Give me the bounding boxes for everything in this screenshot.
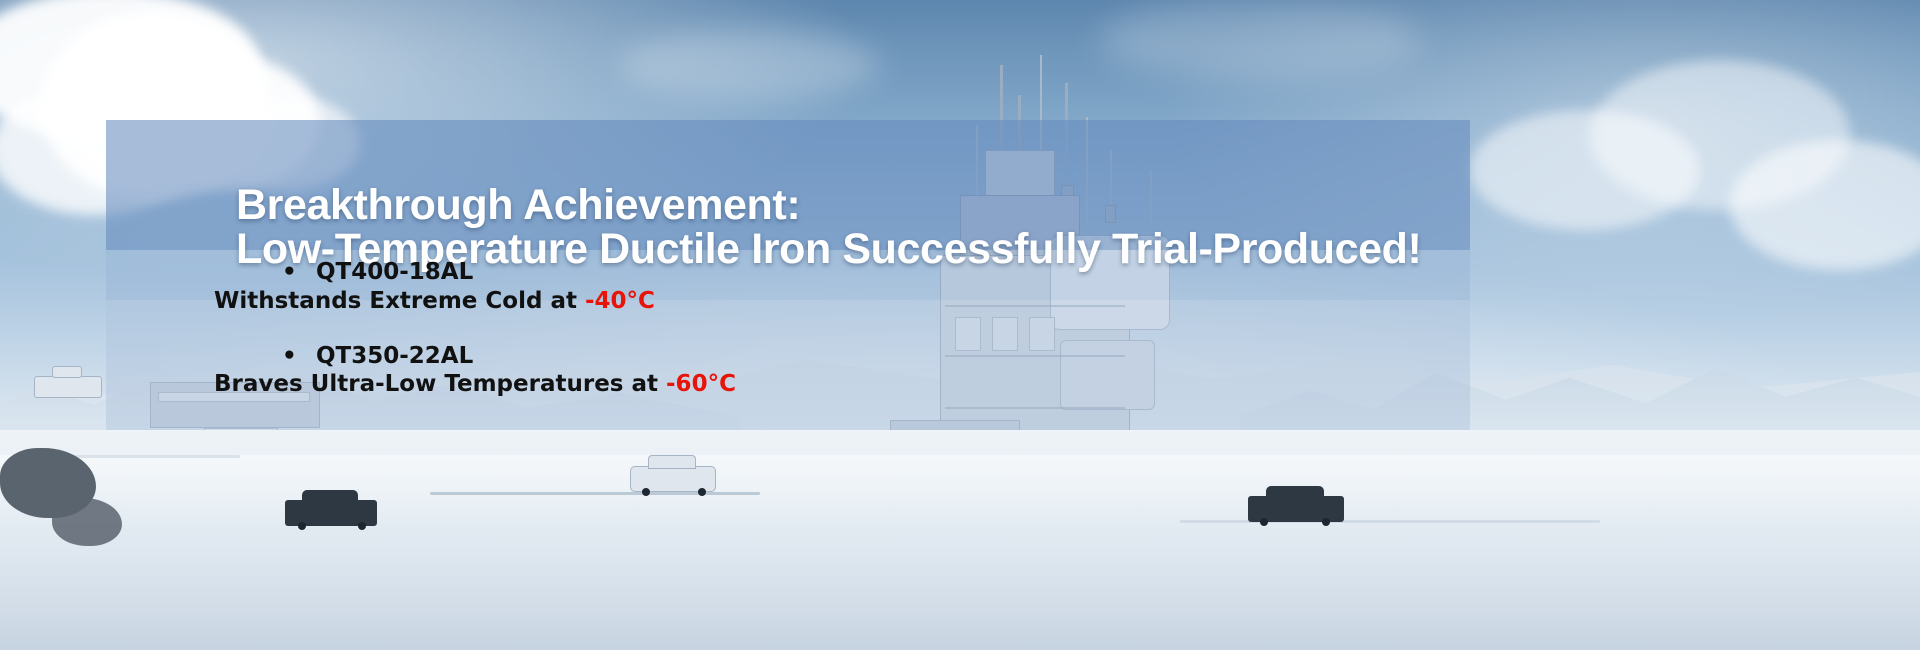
wheel-shape (642, 488, 650, 496)
bullet-description-text: Withstands Extreme Cold at (214, 288, 585, 314)
snow-track (430, 492, 760, 495)
banner-root: Breakthrough Achievement: Low-Temperatur… (0, 0, 1920, 650)
bullet-description-line: Withstands Extreme Cold at -40°C (214, 287, 1382, 316)
temperature-value: -40°C (585, 288, 655, 314)
bullet-grade-line: •QT350-22AL (282, 342, 1382, 371)
car-cabin (302, 490, 358, 503)
wheel-shape (1322, 518, 1330, 526)
suv-cabin (648, 455, 696, 469)
wheel-shape (698, 488, 706, 496)
temperature-value: -60°C (666, 371, 736, 397)
text-overlay-panel: Breakthrough Achievement: Low-Temperatur… (106, 120, 1470, 430)
snow-track (60, 455, 240, 458)
bullet-group-qt400: •QT400-18AL Withstands Extreme Cold at -… (282, 258, 1382, 316)
headline-line-1: Breakthrough Achievement: (236, 181, 800, 229)
bullet-grade-line: •QT400-18AL (282, 258, 1382, 287)
truck-cab (52, 366, 82, 378)
bullet-dot-icon: • (282, 342, 316, 371)
snow-track (1180, 520, 1600, 523)
bullet-description-text: Braves Ultra-Low Temperatures at (214, 371, 666, 397)
feature-bullet-list: •QT400-18AL Withstands Extreme Cold at -… (282, 258, 1382, 399)
snow-shading (0, 455, 1920, 650)
truck-shape (34, 376, 102, 398)
cloud-shape (620, 30, 880, 100)
material-grade-label: QT400-18AL (316, 259, 473, 285)
wheel-shape (1260, 518, 1268, 526)
bullet-group-qt350: •QT350-22AL Braves Ultra-Low Temperature… (282, 342, 1382, 400)
car-cabin (1266, 486, 1324, 499)
bullet-dot-icon: • (282, 258, 316, 287)
wheel-shape (298, 522, 306, 530)
material-grade-label: QT350-22AL (316, 343, 473, 369)
bullet-description-line: Braves Ultra-Low Temperatures at -60°C (214, 370, 1382, 399)
wheel-shape (358, 522, 366, 530)
